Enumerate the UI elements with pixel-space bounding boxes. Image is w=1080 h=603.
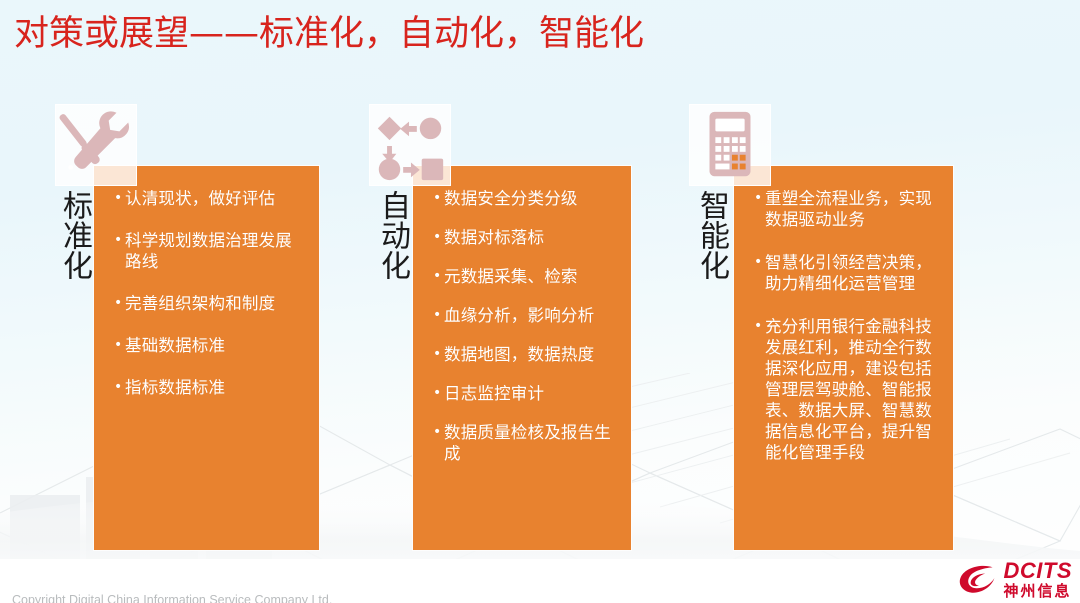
logo-text-block: DCITS 神州信息 [1004,560,1073,599]
list-item: 元数据采集、检索 [433,266,617,287]
list-item: 血缘分析，影响分析 [433,305,617,326]
flowchart-icon [369,104,451,186]
list-item: 科学规划数据治理发展路线 [114,230,305,272]
page-title: 对策或展望——标准化，自动化，智能化 [14,8,644,60]
list-item: 智慧化引领经营决策，助力精细化运营管理 [754,252,939,294]
copyright-text: Copyright Digital China Information Serv… [12,593,332,603]
dcits-logo: DCITS 神州信息 [958,560,1073,599]
dcits-swirl-logo-icon [958,564,998,596]
tools-wrench-screwdriver-icon [55,104,137,186]
panel-intelligence: 重塑全流程业务，实现数据驱动业务 智慧化引领经营决策，助力精细化运营管理 充分利… [733,165,954,551]
list-item: 重塑全流程业务，实现数据驱动业务 [754,188,939,230]
list-item: 认清现状，做好评估 [114,188,305,209]
list-item: 数据地图，数据热度 [433,344,617,365]
slide-root: 对策或展望——标准化，自动化，智能化 标准化 认清现状，做好评估 科学规划数据治… [0,0,1080,603]
list-item: 数据安全分类分级 [433,188,617,209]
list-item: 日志监控审计 [433,383,617,404]
panel-automation: 数据安全分类分级 数据对标落标 元数据采集、检索 血缘分析，影响分析 数据地图，… [412,165,632,551]
list-item: 基础数据标准 [114,335,305,356]
column-label-standardization: 标准化 [53,190,95,280]
calculator-icon [689,104,771,186]
panel-standardization: 认清现状，做好评估 科学规划数据治理发展路线 完善组织架构和制度 基础数据标准 … [93,165,320,551]
bullet-list-intelligence: 重塑全流程业务，实现数据驱动业务 智慧化引领经营决策，助力精细化运营管理 充分利… [754,188,939,463]
bullet-list-automation: 数据安全分类分级 数据对标落标 元数据采集、检索 血缘分析，影响分析 数据地图，… [433,188,617,464]
logo-cn-text: 神州信息 [1004,584,1073,599]
list-item: 充分利用银行金融科技发展红利，推动全行数据深化应用，建设包括管理层驾驶舱、智能报… [754,316,939,463]
list-item: 完善组织架构和制度 [114,293,305,314]
column-label-intelligence: 智能化 [690,190,732,280]
logo-en-text: DCITS [1004,560,1073,582]
bullet-list-standardization: 认清现状，做好评估 科学规划数据治理发展路线 完善组织架构和制度 基础数据标准 … [114,188,305,398]
column-label-automation: 自动化 [371,190,413,280]
list-item: 数据质量检核及报告生成 [433,422,617,464]
list-item: 数据对标落标 [433,227,617,248]
list-item: 指标数据标准 [114,377,305,398]
